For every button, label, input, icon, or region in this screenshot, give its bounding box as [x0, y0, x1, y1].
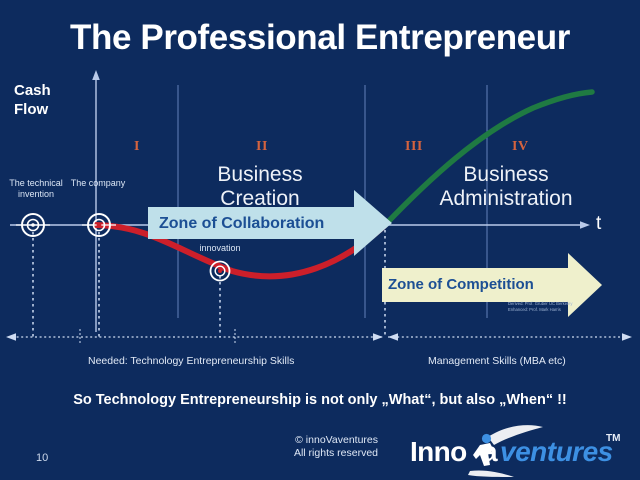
stage-heading-creation-line2: Creation: [180, 187, 340, 211]
y-axis-label-line2: Flow: [14, 101, 51, 120]
logo-trademark: TM: [606, 433, 620, 444]
marker-label-technical-invention: The technical invention: [0, 178, 72, 201]
phase-numeral-iv: IV: [512, 139, 529, 155]
skills-caption-right: Management Skills (MBA etc): [428, 355, 566, 367]
marker-label-innovation: innovation: [183, 243, 257, 254]
logo-text-a: a: [482, 436, 498, 468]
phase-numeral-iii: III: [405, 139, 423, 155]
logo-text-inno: Inno: [410, 436, 467, 468]
marker-label-the-company: The company: [68, 178, 128, 189]
cash-flow-chart: [0, 0, 640, 480]
credit-note: Derived: Prof. Gruber UC Berkeley Enhanc…: [508, 301, 572, 314]
y-axis-label-line1: Cash: [14, 82, 51, 101]
copyright-block: © innoVaventures All rights reserved: [228, 434, 378, 461]
page-number: 10: [36, 452, 48, 464]
measurement-band-left: [6, 333, 383, 341]
copyright-line2: All rights reserved: [228, 447, 378, 460]
tagline: So Technology Entrepreneurship is not on…: [0, 392, 640, 408]
marker-technical-invention: [16, 214, 50, 236]
stage-heading-business-creation: Business Creation: [180, 163, 340, 210]
stage-heading-business-administration: Business Administration: [420, 163, 592, 210]
phase-numeral-i: I: [134, 139, 140, 155]
zone-of-collaboration-label: Zone of Collaboration: [159, 215, 324, 233]
x-axis-label: t: [596, 213, 601, 235]
y-axis: [92, 70, 100, 332]
measurement-band-right: [388, 333, 632, 341]
stage-heading-administration-line1: Business: [420, 163, 592, 187]
innovaventures-logo: Inno a ventures TM: [410, 425, 630, 477]
marker-innovation: [211, 262, 230, 281]
slide-root: The Professional Entrepreneur: [0, 0, 640, 480]
copyright-line1: © innoVaventures: [228, 434, 378, 447]
zone-of-competition-label: Zone of Competition: [388, 276, 534, 293]
y-axis-label: Cash Flow: [14, 82, 51, 120]
skills-caption-left: Needed: Technology Entrepreneurship Skil…: [88, 355, 294, 367]
phase-numeral-ii: II: [256, 139, 268, 155]
credit-line2: Enhanced: Prof. Mark Harris: [508, 307, 572, 313]
stage-heading-administration-line2: Administration: [420, 187, 592, 211]
page-title: The Professional Entrepreneur: [0, 20, 640, 57]
marker-the-company: [82, 214, 116, 236]
stage-heading-creation-line1: Business: [180, 163, 340, 187]
logo-text-ventures: ventures: [500, 436, 613, 468]
measurement-ticks: [80, 329, 235, 345]
